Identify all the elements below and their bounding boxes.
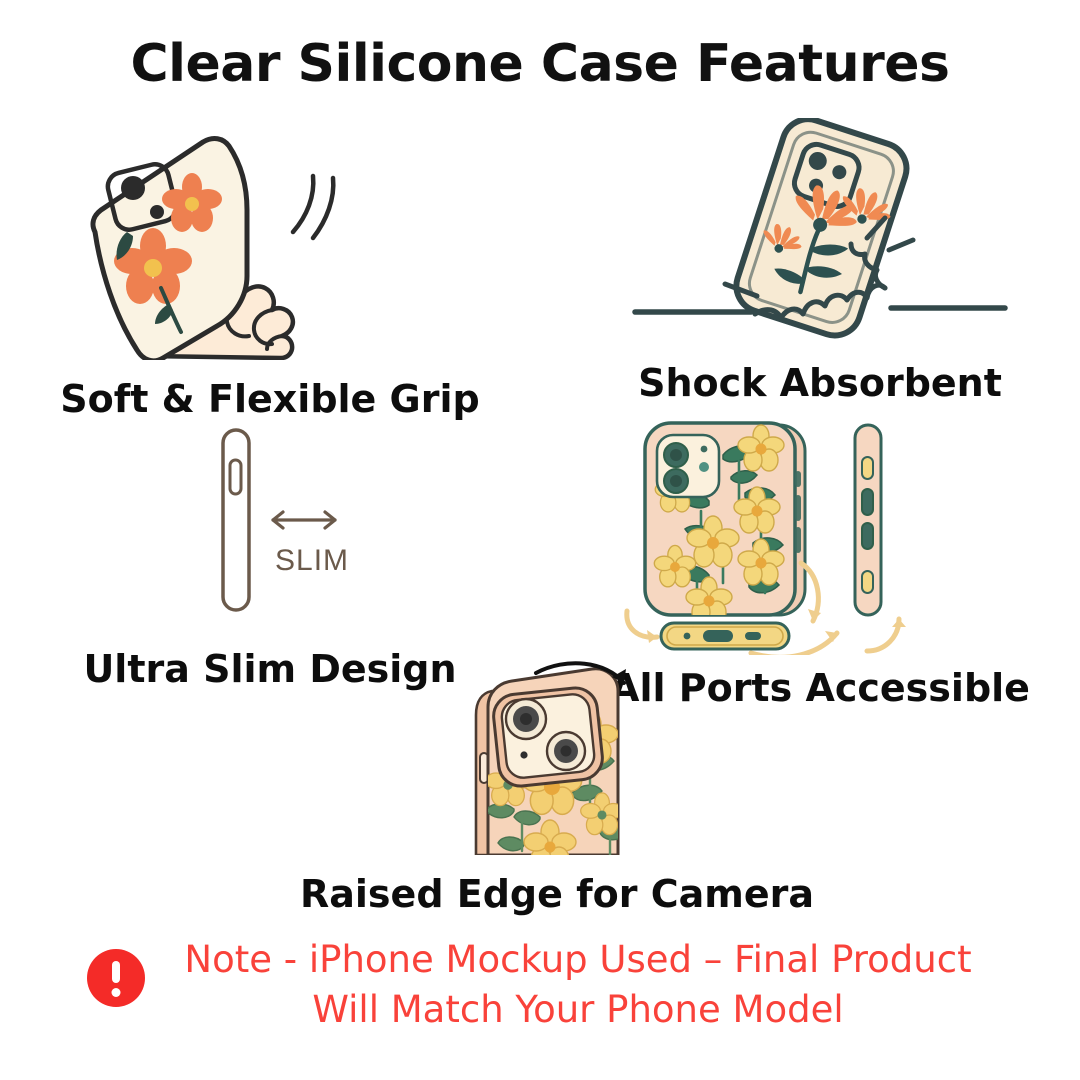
- exclamation-stem: [112, 961, 120, 983]
- feature-raised-edge-camera: Raised Edge for Camera: [300, 655, 780, 916]
- exclamation-circle-icon: [87, 949, 145, 1007]
- feature-ultra-slim-design: SLIM Ultra Slim Design: [35, 420, 505, 691]
- feature-label-shock: Shock Absorbent: [605, 361, 1035, 405]
- mockup-disclaimer-note: Note - iPhone Mockup Used – Final Produc…: [0, 935, 1080, 1035]
- phone-side-profile-slim-icon: SLIM: [35, 420, 505, 625]
- slim-caption: SLIM: [275, 544, 349, 577]
- case-features-infographic: Clear Silicone Case Features: [0, 0, 1080, 1080]
- phone-ports-cutouts-icon: [605, 415, 1035, 660]
- feature-soft-flexible-grip: Soft & Flexible Grip: [35, 120, 505, 421]
- hand-flexing-phone-case-icon: [35, 120, 505, 365]
- note-text: Note - iPhone Mockup Used – Final Produc…: [163, 935, 993, 1035]
- page-title: Clear Silicone Case Features: [0, 34, 1080, 94]
- phone-raised-camera-edge-icon: [300, 655, 780, 860]
- feature-label-camera: Raised Edge for Camera: [300, 872, 780, 916]
- feature-label-grip: Soft & Flexible Grip: [35, 377, 505, 421]
- feature-shock-absorbent: Shock Absorbent: [605, 118, 1035, 405]
- phone-impact-shock-icon: [605, 118, 1035, 353]
- exclamation-dot: [112, 988, 121, 997]
